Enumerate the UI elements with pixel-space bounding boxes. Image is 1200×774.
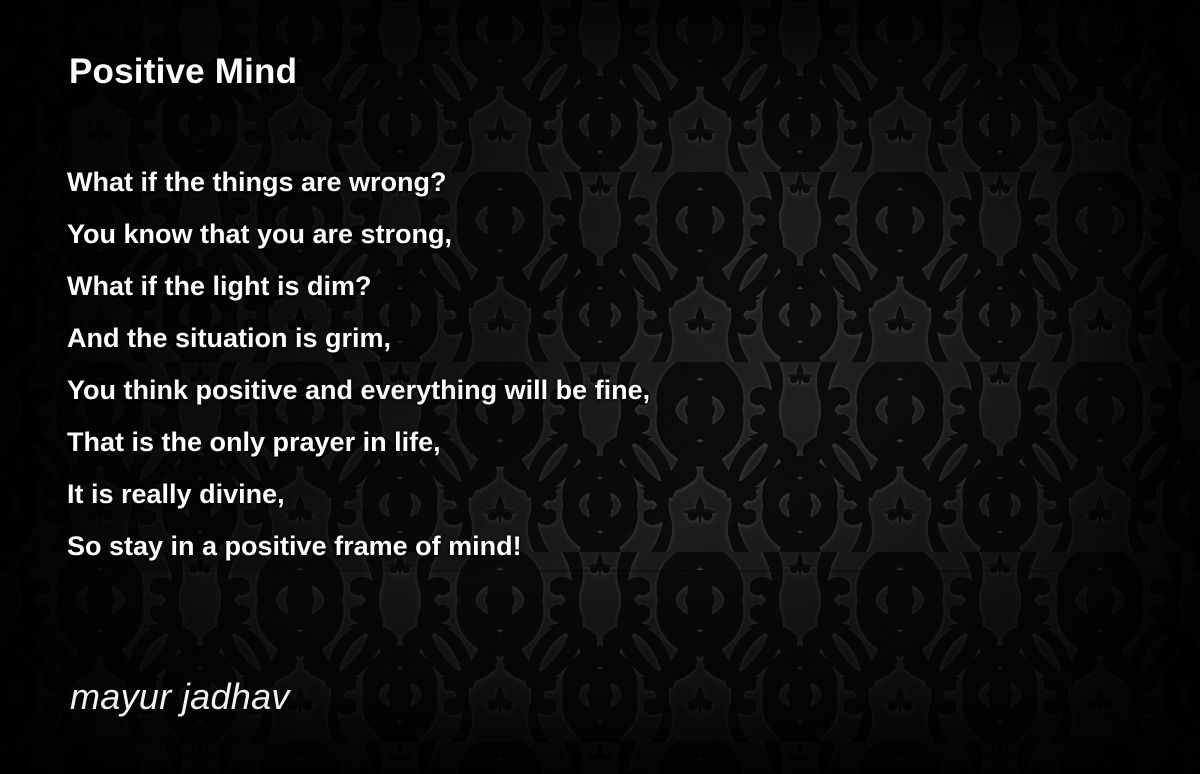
- poem-line: It is really divine,: [67, 468, 1127, 520]
- poem-line: What if the light is dim?: [67, 260, 1127, 312]
- poem-content: Positive Mind What if the things are wro…: [0, 0, 1200, 774]
- poem-line: And the situation is grim,: [67, 312, 1127, 364]
- poem-body: What if the things are wrong? You know t…: [67, 156, 1127, 572]
- poem-line: So stay in a positive frame of mind!: [67, 520, 1127, 572]
- poem-author-name: mayur jadhav: [70, 676, 290, 718]
- poem-line: What if the things are wrong?: [67, 156, 1127, 208]
- poem-title: Positive Mind: [69, 52, 297, 92]
- poem-line: That is the only prayer in life,: [67, 416, 1127, 468]
- poem-line: You know that you are strong,: [67, 208, 1127, 260]
- poem-line: You think positive and everything will b…: [67, 364, 1127, 416]
- poem-image-card: Positive Mind What if the things are wro…: [0, 0, 1200, 774]
